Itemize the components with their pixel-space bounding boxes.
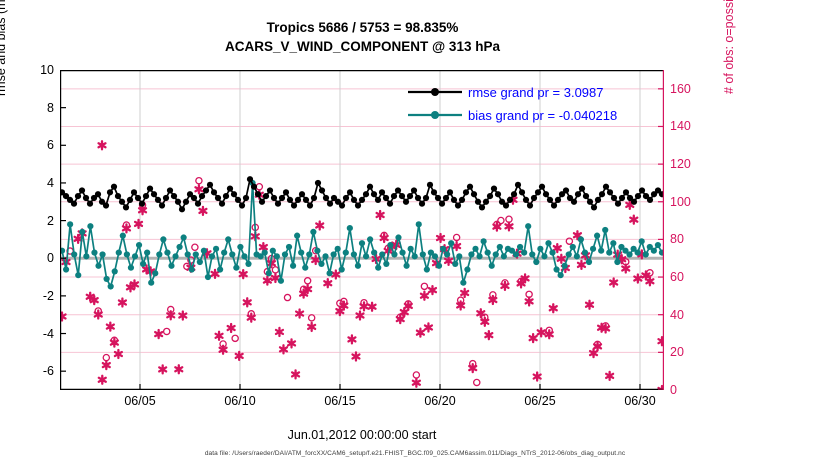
series-marker	[241, 253, 247, 259]
series-marker	[189, 266, 195, 272]
series-marker	[87, 223, 93, 229]
series-marker	[291, 202, 297, 208]
series-marker	[427, 182, 433, 188]
series-marker	[247, 176, 253, 182]
series-marker	[181, 234, 187, 240]
series-marker	[322, 253, 328, 259]
series-marker	[607, 189, 613, 195]
series-marker	[201, 248, 207, 254]
series-marker	[639, 187, 645, 193]
series-marker	[143, 193, 149, 199]
series-marker	[424, 266, 430, 272]
series-marker	[655, 242, 661, 248]
series-marker	[191, 195, 197, 201]
series-marker	[411, 187, 417, 193]
series-marker	[551, 202, 557, 208]
rmse-series	[60, 176, 664, 212]
series-marker	[507, 197, 513, 203]
series-marker	[302, 265, 308, 271]
series-marker	[107, 189, 113, 195]
series-marker	[403, 263, 409, 269]
series-marker	[259, 199, 265, 205]
series-marker	[279, 195, 285, 201]
obs-possible-marker	[413, 372, 419, 378]
series-marker	[501, 253, 507, 259]
series-marker	[407, 193, 413, 199]
series-marker	[290, 263, 296, 269]
y-tick-right-6: 40	[670, 308, 716, 322]
series-marker	[387, 201, 393, 207]
series-marker	[571, 199, 577, 205]
obs-assimilated-marker	[199, 207, 206, 215]
series-marker	[111, 184, 117, 190]
series-marker	[152, 270, 158, 276]
series-marker	[326, 270, 332, 276]
series-marker	[239, 202, 245, 208]
legend-label-0: rmse grand pr = 3.0987	[468, 85, 604, 100]
series-marker	[135, 195, 141, 201]
obs-assimilated-marker	[175, 365, 182, 373]
series-marker	[339, 266, 345, 272]
obs-possible-marker	[164, 328, 170, 334]
y-tick-right-0: 160	[670, 82, 716, 96]
plot-area: rmse grand pr = 3.0987bias grand pr = -0…	[60, 70, 664, 390]
series-marker	[472, 246, 478, 252]
series-marker	[395, 234, 401, 240]
series-marker	[606, 249, 612, 255]
series-marker	[343, 195, 349, 201]
series-marker	[255, 191, 261, 197]
x-tick-1: 06/10	[205, 394, 275, 408]
obs-assimilated-marker	[369, 303, 376, 311]
series-marker	[271, 195, 277, 201]
series-marker	[95, 191, 101, 197]
obs-assimilated-marker	[99, 141, 106, 149]
obs-possible-marker	[421, 283, 427, 289]
series-marker	[587, 199, 593, 205]
obs-possible-marker	[284, 294, 290, 300]
obs-assimilated-marker	[610, 279, 617, 287]
series-marker	[468, 251, 474, 257]
series-marker	[383, 261, 389, 267]
series-marker	[104, 276, 110, 282]
series-marker	[75, 272, 81, 278]
obs-assimilated-marker	[413, 379, 420, 387]
series-marker	[131, 189, 137, 195]
series-marker	[471, 191, 477, 197]
y-axis-right-ticks: 160140120100806040200	[670, 70, 720, 390]
series-marker	[67, 221, 73, 227]
series-marker	[103, 202, 109, 208]
series-marker	[91, 249, 97, 255]
series-marker	[529, 251, 535, 257]
series-marker	[112, 268, 118, 274]
y-tick-left-4: 2	[8, 214, 54, 228]
series-marker	[147, 185, 153, 191]
series-marker	[71, 251, 77, 257]
series-marker	[431, 189, 437, 195]
series-marker	[140, 261, 146, 267]
obs-assimilated-marker	[167, 311, 174, 319]
series-marker	[95, 263, 101, 269]
series-marker	[156, 251, 162, 257]
series-marker	[195, 201, 201, 207]
series-marker	[79, 187, 85, 193]
series-marker	[375, 197, 381, 203]
obs-assimilated-marker	[437, 234, 444, 242]
series-marker	[399, 193, 405, 199]
series-marker	[603, 184, 609, 190]
series-marker	[99, 251, 105, 257]
obs-assimilated-marker	[155, 330, 162, 338]
obs-assimilated-marker	[236, 352, 243, 360]
series-marker	[119, 199, 125, 205]
series-marker	[363, 253, 369, 259]
series-marker	[179, 206, 185, 212]
x-axis-ticks: 06/0506/1006/1506/2006/2506/30	[60, 394, 664, 414]
series-marker	[209, 253, 215, 259]
series-marker	[447, 189, 453, 195]
chart-title-line-1: Tropics 5686 / 5753 = 98.835%	[60, 18, 665, 37]
series-marker	[614, 259, 620, 265]
obs-assimilated-marker	[316, 222, 323, 230]
obs-assimilated-marker	[99, 376, 106, 384]
series-marker	[155, 197, 161, 203]
series-marker	[562, 263, 568, 269]
series-marker	[497, 244, 503, 250]
series-marker	[476, 253, 482, 259]
series-marker	[303, 197, 309, 203]
series-marker	[598, 248, 604, 254]
series-marker	[575, 191, 581, 197]
series-marker	[543, 191, 549, 197]
x-tick-2: 06/15	[305, 394, 375, 408]
series-marker	[327, 201, 333, 207]
series-marker	[591, 204, 597, 210]
obs-assimilated-marker	[606, 372, 613, 380]
series-marker	[412, 253, 418, 259]
series-marker	[549, 249, 555, 255]
series-marker	[547, 197, 553, 203]
y-tick-left-0: 10	[8, 63, 54, 77]
series-marker	[570, 244, 576, 250]
series-marker	[79, 229, 85, 235]
series-marker	[553, 266, 559, 272]
x-tick-0: 06/05	[105, 394, 175, 408]
series-marker	[423, 195, 429, 201]
series-marker	[408, 246, 414, 252]
series-marker	[367, 236, 373, 242]
obs-assimilated-marker	[622, 265, 629, 273]
obs-possible-marker	[272, 267, 278, 273]
series-marker	[635, 193, 641, 199]
series-marker	[128, 265, 134, 271]
series-marker	[375, 265, 381, 271]
series-marker	[420, 251, 426, 257]
obs-assimilated-marker	[377, 211, 384, 219]
series-marker	[599, 191, 605, 197]
series-marker	[132, 253, 138, 259]
series-marker	[590, 246, 596, 252]
obs-assimilated-marker	[646, 277, 653, 285]
obs-assimilated-marker	[119, 299, 126, 307]
y-tick-left-7: -4	[8, 327, 54, 341]
series-marker	[391, 193, 397, 199]
obs-possible-marker	[309, 315, 315, 321]
series-marker	[451, 197, 457, 203]
series-marker	[619, 195, 625, 201]
series-marker	[116, 249, 122, 255]
series-marker	[315, 180, 321, 186]
series-marker	[87, 201, 93, 207]
series-marker	[485, 249, 491, 255]
series-marker	[314, 248, 320, 254]
y-tick-right-4: 80	[670, 232, 716, 246]
series-marker	[459, 197, 465, 203]
series-marker	[274, 253, 280, 259]
series-marker	[319, 187, 325, 193]
series-marker	[631, 199, 637, 205]
series-marker	[75, 193, 81, 199]
series-marker	[339, 202, 345, 208]
obs-assimilated-marker	[578, 261, 585, 269]
series-marker	[164, 249, 170, 255]
series-marker	[295, 197, 301, 203]
obs-assimilated-marker	[244, 298, 251, 306]
series-marker	[171, 193, 177, 199]
obs-assimilated-marker	[485, 331, 492, 339]
series-marker	[595, 197, 601, 203]
series-marker	[639, 238, 645, 244]
obs-assimilated-marker	[530, 334, 537, 342]
x-tick-3: 06/20	[405, 394, 475, 408]
series-marker	[371, 191, 377, 197]
series-marker	[643, 251, 649, 257]
series-marker	[235, 197, 241, 203]
y-tick-right-1: 140	[670, 119, 716, 133]
series-marker	[594, 233, 600, 239]
series-marker	[455, 202, 461, 208]
obs-assimilated-marker	[135, 220, 142, 228]
series-marker	[294, 233, 300, 239]
series-marker	[483, 199, 489, 205]
series-marker	[432, 253, 438, 259]
series-marker	[335, 246, 341, 252]
obs-assimilated-marker	[228, 324, 235, 332]
series-marker	[395, 187, 401, 193]
series-marker	[523, 197, 529, 203]
series-marker	[359, 197, 365, 203]
series-marker	[419, 201, 425, 207]
series-marker	[205, 274, 211, 280]
series-marker	[347, 189, 353, 195]
y-axis-left-ticks: 1086420-2-4-6	[0, 70, 54, 390]
series-marker	[555, 197, 561, 203]
plot-svg: rmse grand pr = 3.0987bias grand pr = -0…	[60, 70, 664, 390]
y-axis-right-label: # of obs: o=possible; *=assimilated	[722, 0, 736, 94]
obs-assimilated-marker	[308, 323, 315, 331]
obs-assimilated-marker	[159, 365, 166, 373]
series-marker	[533, 259, 539, 265]
obs-assimilated-marker	[590, 349, 597, 357]
obs-assimilated-marker	[288, 339, 295, 347]
series-marker	[503, 202, 509, 208]
series-marker	[148, 280, 154, 286]
series-marker	[371, 249, 377, 255]
obs-assimilated-marker	[353, 352, 360, 360]
obs-assimilated-marker	[292, 370, 299, 378]
y-tick-right-3: 100	[670, 195, 716, 209]
data-file-footer: data file: /Users/raeder/DAI/ATM_forcXX/…	[0, 450, 830, 457]
series-marker	[467, 184, 473, 190]
series-marker	[299, 191, 305, 197]
series-marker	[144, 249, 150, 255]
series-marker	[463, 189, 469, 195]
series-marker	[120, 233, 126, 239]
series-marker	[283, 189, 289, 195]
series-marker	[415, 195, 421, 201]
series-marker	[193, 251, 199, 257]
obs-possible-marker	[196, 178, 202, 184]
obs-assimilated-marker	[115, 350, 122, 358]
series-marker	[311, 195, 317, 201]
series-marker	[452, 261, 458, 267]
series-marker	[306, 251, 312, 257]
series-marker	[611, 195, 617, 201]
series-marker	[399, 249, 405, 255]
obs-assimilated-marker	[586, 301, 593, 309]
series-marker	[391, 251, 397, 257]
x-tick-5: 06/30	[605, 394, 675, 408]
series-marker	[531, 195, 537, 201]
series-marker	[286, 244, 292, 250]
series-marker	[558, 272, 564, 278]
obs-possible-marker	[192, 244, 198, 250]
series-marker	[517, 244, 523, 250]
series-marker	[237, 244, 243, 250]
series-marker	[464, 266, 470, 272]
legend-marker-1	[431, 111, 439, 119]
series-marker	[479, 204, 485, 210]
obs-assimilated-marker	[630, 216, 637, 224]
y-tick-left-2: 6	[8, 138, 54, 152]
series-marker	[383, 195, 389, 201]
series-marker	[583, 193, 589, 199]
series-marker	[310, 229, 316, 235]
series-marker	[626, 251, 632, 257]
series-marker	[379, 251, 385, 257]
series-marker	[172, 253, 178, 259]
series-marker	[160, 236, 166, 242]
series-marker	[270, 248, 276, 254]
series-marker	[318, 261, 324, 267]
series-marker	[513, 251, 519, 257]
x-tick-4: 06/25	[505, 394, 575, 408]
series-marker	[199, 193, 205, 199]
series-marker	[245, 261, 251, 267]
series-marker	[602, 227, 608, 233]
series-marker	[351, 251, 357, 257]
obs-assimilated-marker	[264, 277, 271, 285]
series-marker	[243, 195, 249, 201]
series-marker	[278, 278, 284, 284]
series-marker	[359, 240, 365, 246]
series-marker	[343, 249, 349, 255]
series-marker	[651, 248, 657, 254]
series-marker	[231, 191, 237, 197]
figure-canvas: Tropics 5686 / 5753 = 98.835% ACARS_V_WI…	[0, 0, 830, 470]
series-marker	[511, 191, 517, 197]
obs-possible-marker	[474, 379, 480, 385]
y-tick-right-2: 120	[670, 157, 716, 171]
series-marker	[215, 195, 221, 201]
series-marker	[183, 199, 189, 205]
series-marker	[610, 240, 616, 246]
series-marker	[448, 240, 454, 246]
y-tick-left-1: 8	[8, 101, 54, 115]
series-marker	[267, 187, 273, 193]
y-tick-left-8: -6	[8, 364, 54, 378]
obs-assimilated-marker	[179, 312, 186, 320]
series-marker	[489, 263, 495, 269]
series-marker	[175, 199, 181, 205]
series-marker	[623, 189, 629, 195]
series-marker	[123, 204, 129, 210]
obs-assimilated-marker	[506, 222, 513, 230]
series-marker	[266, 270, 272, 276]
series-marker	[108, 283, 114, 289]
series-marker	[519, 189, 525, 195]
obs-assimilated-marker	[195, 185, 202, 193]
series-marker	[578, 236, 584, 242]
series-marker	[363, 191, 369, 197]
series-marker	[403, 199, 409, 205]
series-marker	[323, 195, 329, 201]
series-marker	[262, 249, 268, 255]
series-marker	[217, 266, 223, 272]
legend-marker-0	[431, 88, 439, 96]
series-marker	[541, 253, 547, 259]
series-marker	[251, 184, 257, 190]
y-tick-right-5: 60	[670, 270, 716, 284]
y-tick-left-6: -2	[8, 289, 54, 303]
series-marker	[223, 193, 229, 199]
series-marker	[331, 251, 337, 257]
series-marker	[83, 253, 89, 259]
series-marker	[83, 195, 89, 201]
series-marker	[436, 263, 442, 269]
series-marker	[167, 187, 173, 193]
series-marker	[139, 201, 145, 207]
series-marker	[282, 251, 288, 257]
series-marker	[539, 184, 545, 190]
series-marker	[307, 202, 313, 208]
series-marker	[298, 249, 304, 255]
obs-assimilated-marker	[425, 323, 432, 331]
series-marker	[387, 242, 393, 248]
series-marker	[185, 251, 191, 257]
series-marker	[219, 201, 225, 207]
series-marker	[168, 263, 174, 269]
obs-assimilated-marker	[107, 323, 114, 331]
series-marker	[527, 202, 533, 208]
obs-assimilated-marker	[324, 279, 331, 287]
series-marker	[227, 185, 233, 191]
series-marker	[416, 221, 422, 227]
obs-assimilated-marker	[216, 332, 223, 340]
x-axis-label: Jun.01,2012 00:00:00 start	[60, 428, 664, 442]
series-marker	[379, 189, 385, 195]
